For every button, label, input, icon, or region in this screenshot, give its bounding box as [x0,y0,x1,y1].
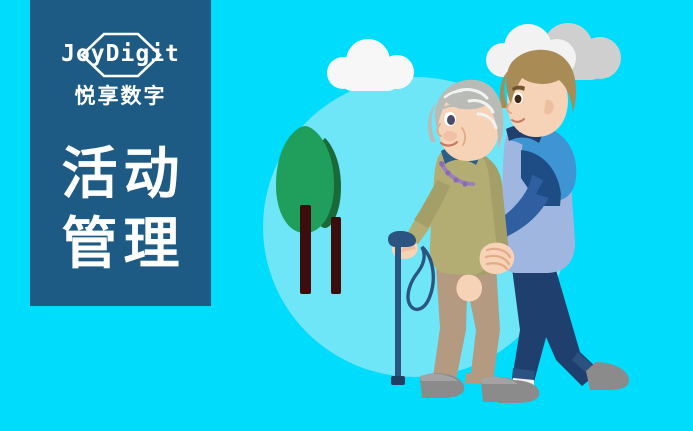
logo-block: JoyDigit 悦享数字 [30,32,211,108]
page-title-line-2: 管理 [30,210,211,280]
logo-mark: JoyDigit [30,32,211,78]
poster-canvas: JoyDigit 悦享数字 活动 管理 [0,0,693,431]
page-title: 活动 管理 [30,140,211,280]
logo-chinese-name: 悦享数字 [30,84,211,108]
page-title-line-1: 活动 [30,140,211,210]
logo-wordmark: JoyDigit [30,41,211,67]
brand-panel: JoyDigit 悦享数字 活动 管理 [30,0,211,306]
